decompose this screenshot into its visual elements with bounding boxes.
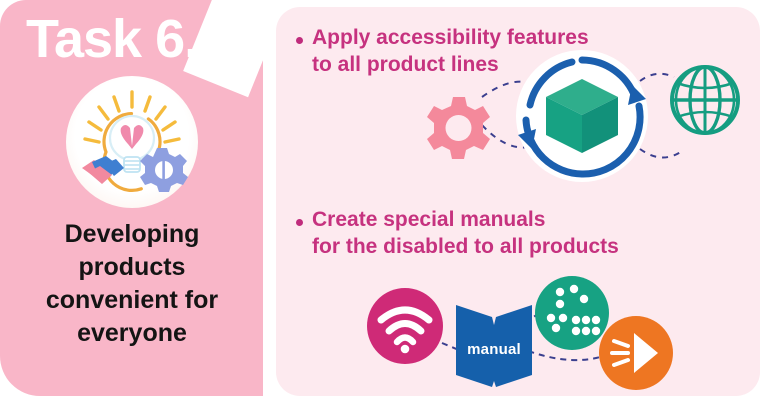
- globe-icon: [666, 61, 744, 139]
- cube-icon: [544, 77, 620, 157]
- manual-book-label: manual: [458, 341, 530, 358]
- right-panel: Apply accessibility features to all prod…: [276, 7, 760, 396]
- megaphone-icon: [598, 315, 674, 391]
- page-title: Task 6.: [26, 12, 198, 66]
- handshake-icon: [82, 156, 124, 184]
- lightbulb-innovation-badge: [66, 76, 198, 208]
- bullet-dot-icon: [296, 219, 303, 226]
- bullet-dot-icon: [296, 37, 303, 44]
- accessible-manuals-illustration: manual: [366, 265, 756, 393]
- gear-icon: [426, 95, 492, 161]
- left-panel-caption: Developing products convenient for every…: [18, 218, 246, 350]
- product-lifecycle-illustration: [426, 47, 756, 187]
- lightbulb-innovation-icon: [66, 76, 198, 208]
- infographic-canvas: Task 6.: [0, 0, 768, 403]
- gear-icon: [140, 148, 188, 192]
- bullet-item-special-manuals: Create special manuals for the disabled …: [296, 207, 619, 261]
- wifi-icon: [366, 287, 444, 365]
- left-panel: Task 6.: [0, 0, 263, 396]
- bullet-text: Create special manuals for the disabled …: [312, 207, 619, 261]
